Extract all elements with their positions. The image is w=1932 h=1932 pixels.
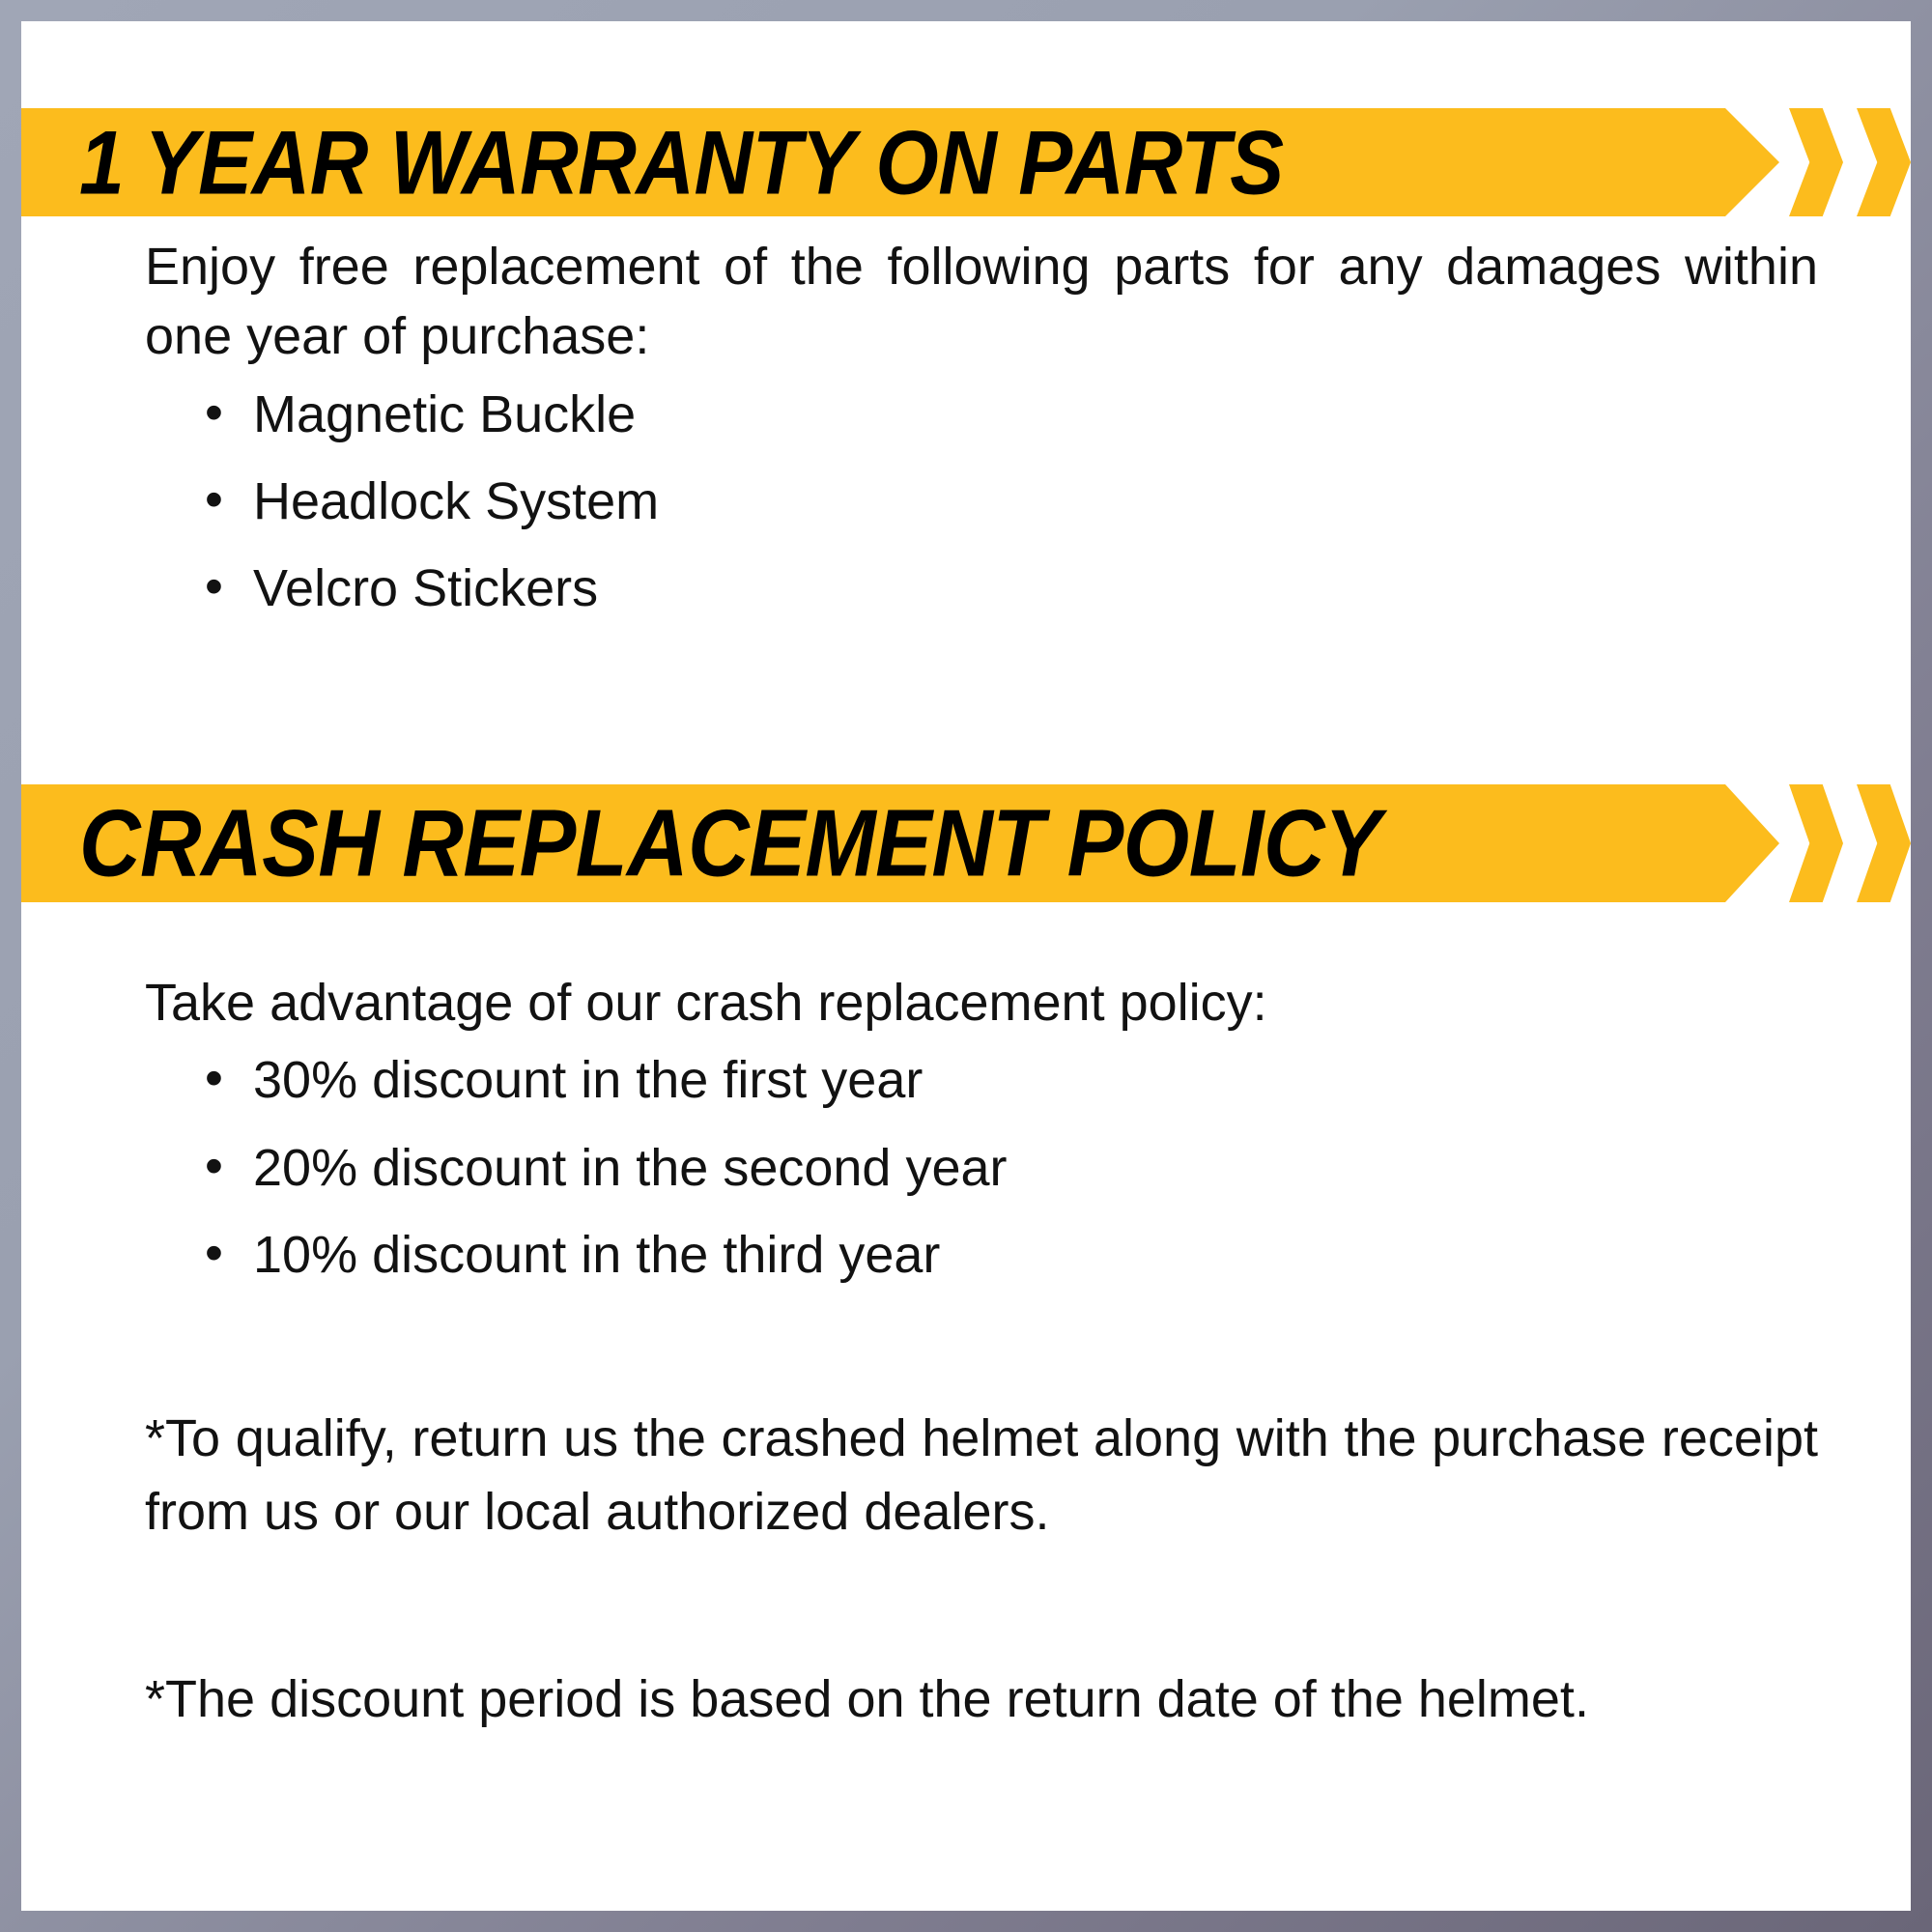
list-item: Magnetic Buckle <box>145 380 1818 449</box>
crash-policy-body: Take advantage of our crash replacement … <box>145 968 1818 1307</box>
crash-policy-intro-text: Take advantage of our crash replacement … <box>145 968 1818 1037</box>
list-item: 30% discount in the first year <box>145 1045 1818 1115</box>
warranty-intro-text: Enjoy free replacement of the following … <box>145 232 1818 372</box>
warranty-body: Enjoy free replacement of the following … <box>145 232 1818 641</box>
crash-policy-discount-list: 30% discount in the first year 20% disco… <box>145 1045 1818 1290</box>
banner-crash-policy-chevrons <box>1789 784 1911 902</box>
chevron-right-icon <box>1857 784 1911 902</box>
list-item: Velcro Stickers <box>145 554 1818 623</box>
crash-policy-note-1: *To qualify, return us the crashed helme… <box>145 1403 1818 1548</box>
chevron-right-icon <box>1789 784 1843 902</box>
banner-warranty: 1 YEAR WARRANTY ON PARTS <box>21 108 1911 216</box>
list-item: 20% discount in the second year <box>145 1133 1818 1203</box>
chevron-right-icon <box>1857 108 1911 216</box>
banner-crash-policy-bar: CRASH REPLACEMENT POLICY <box>21 784 1779 902</box>
banner-warranty-title: 1 YEAR WARRANTY ON PARTS <box>79 117 1284 208</box>
banner-warranty-bar: 1 YEAR WARRANTY ON PARTS <box>21 108 1779 216</box>
list-item: Headlock System <box>145 467 1818 536</box>
chevron-right-icon <box>1789 108 1843 216</box>
content-sheet: 1 YEAR WARRANTY ON PARTS Enjoy free repl… <box>21 21 1911 1911</box>
crash-policy-note-2: *The discount period is based on the ret… <box>145 1663 1818 1737</box>
crash-policy-note-1-wrap: *To qualify, return us the crashed helme… <box>145 1403 1818 1548</box>
banner-crash-policy: CRASH REPLACEMENT POLICY <box>21 784 1911 902</box>
list-item: 10% discount in the third year <box>145 1220 1818 1290</box>
crash-policy-note-2-wrap: *The discount period is based on the ret… <box>145 1663 1818 1737</box>
banner-warranty-chevrons <box>1789 108 1911 216</box>
banner-crash-policy-title: CRASH REPLACEMENT POLICY <box>79 796 1380 892</box>
warranty-parts-list: Magnetic Buckle Headlock System Velcro S… <box>145 380 1818 624</box>
warranty-policy-page: 1 YEAR WARRANTY ON PARTS Enjoy free repl… <box>0 0 1932 1932</box>
